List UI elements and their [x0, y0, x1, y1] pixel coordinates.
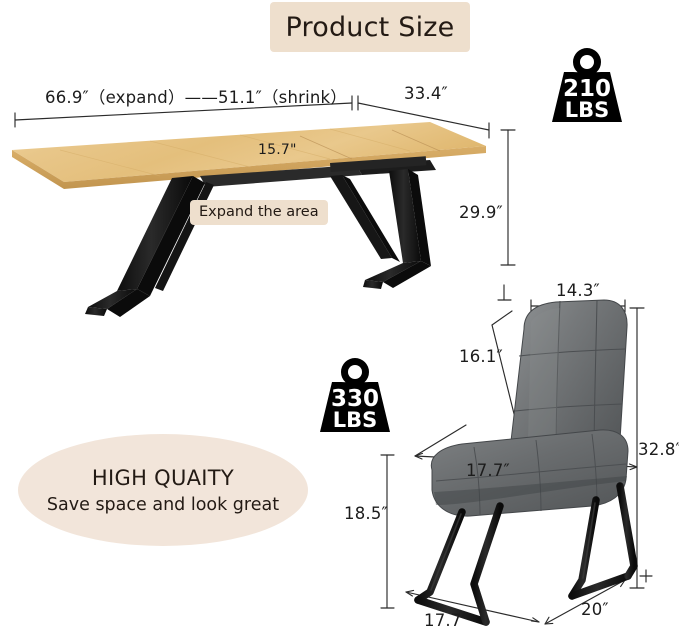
- chair-seat-depth-label: 17.7″: [466, 461, 510, 480]
- page-title: Product Size: [286, 12, 455, 43]
- quality-badge-title: HIGH QUAITY: [92, 466, 234, 490]
- table-dimension-lines: [15, 96, 515, 265]
- chair-total-height-label: 32.8″: [638, 440, 679, 459]
- chair-base-depth-label: 20″: [581, 600, 609, 619]
- table-weight-badge: 210 LBS: [548, 42, 626, 128]
- chair-dimension-lines: [381, 285, 652, 624]
- chair-back-width-label: 14.3″: [556, 281, 600, 300]
- table-leaf-width-label: 15.7": [258, 142, 297, 158]
- chair-base-width-label: 17.7″: [424, 611, 468, 630]
- page-title-banner: Product Size: [270, 2, 470, 52]
- quality-badge: HIGH QUAITY Save space and look great: [18, 434, 308, 546]
- table-height-label: 29.9″: [459, 203, 503, 222]
- expand-area-callout-label: Expand the area: [199, 204, 319, 220]
- chair-back-height-label: 16.1″: [459, 347, 503, 366]
- chair-weight-unit: LBS: [316, 408, 394, 432]
- table-width-label: 66.9″（expand）——51.1″（shrink）: [45, 84, 347, 108]
- chair-weight-badge: 330 LBS: [316, 352, 394, 438]
- quality-badge-subtitle: Save space and look great: [47, 495, 279, 515]
- dining-chair-illustration: [418, 300, 634, 622]
- chair-seat-height-label: 18.5″: [344, 504, 388, 523]
- table-depth-label: 33.4″: [404, 84, 448, 103]
- product-size-infographic: Product Size 66.9″（expand）——51.1″（shrink…: [0, 0, 679, 641]
- table-weight-unit: LBS: [548, 98, 626, 122]
- expand-area-callout: Expand the area: [190, 200, 328, 225]
